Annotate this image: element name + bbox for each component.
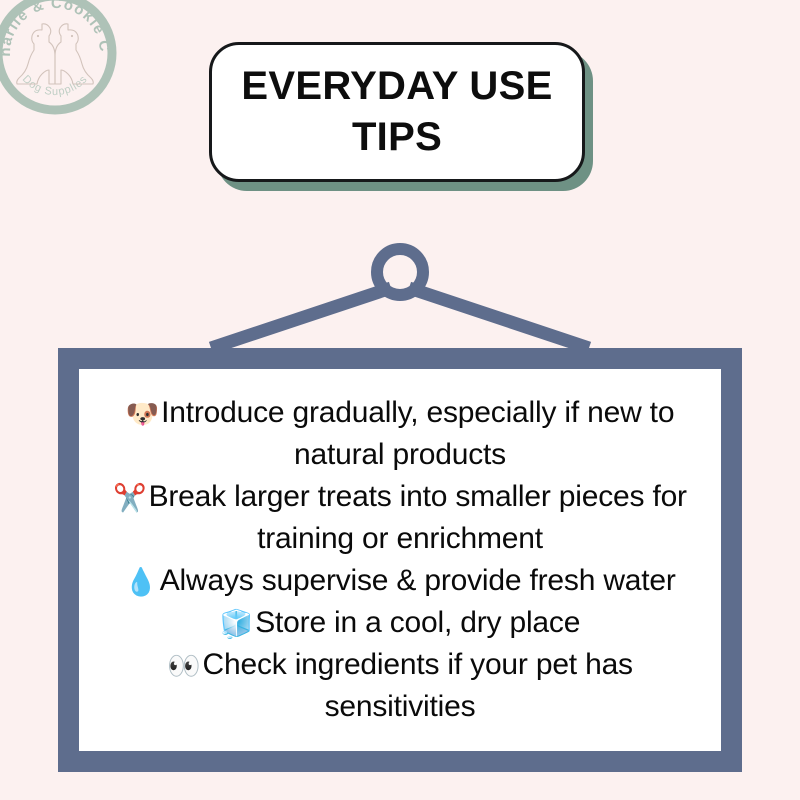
list-item: ✂️Break larger treats into smaller piece… bbox=[91, 476, 709, 560]
hanging-string-right bbox=[409, 288, 589, 348]
dog-silhouette-right bbox=[55, 24, 93, 84]
ring-icon bbox=[377, 249, 423, 295]
hanging-string-left bbox=[211, 288, 391, 348]
list-item: 👀Check ingredients if your pet has sensi… bbox=[91, 644, 709, 728]
list-item: 💧Always supervise & provide fresh water bbox=[91, 560, 709, 602]
list-item: 🐶Introduce gradually, especially if new … bbox=[91, 392, 709, 476]
title-banner-container: EVERYDAY USE TIPS bbox=[209, 42, 585, 182]
tip-text: Check ingredients if your pet has sensit… bbox=[203, 648, 633, 723]
ice-cube-emoji: 🧊 bbox=[220, 609, 253, 639]
scissors-emoji: ✂️ bbox=[113, 483, 146, 513]
page-title: EVERYDAY USE TIPS bbox=[212, 61, 582, 163]
tip-text: Always supervise & provide fresh water bbox=[160, 564, 676, 597]
dog-face-emoji: 🐶 bbox=[126, 399, 159, 429]
tips-sign-board: 🐶Introduce gradually, especially if new … bbox=[58, 348, 742, 772]
tip-text: Break larger treats into smaller pieces … bbox=[149, 480, 687, 555]
eyes-emoji: 👀 bbox=[167, 651, 200, 681]
brand-logo: Charlie & Cookie Co. Dog Supplies bbox=[0, 0, 118, 116]
tip-text: Store in a cool, dry place bbox=[255, 606, 580, 639]
droplet-emoji: 💧 bbox=[124, 567, 157, 597]
tips-list: 🐶Introduce gradually, especially if new … bbox=[91, 392, 709, 728]
tip-text: Introduce gradually, especially if new t… bbox=[161, 396, 674, 471]
sign-hanger bbox=[205, 236, 595, 356]
dog-silhouette-left bbox=[17, 24, 55, 84]
tips-sign-inner: 🐶Introduce gradually, especially if new … bbox=[79, 369, 721, 751]
list-item: 🧊Store in a cool, dry place bbox=[91, 602, 709, 644]
title-banner: EVERYDAY USE TIPS bbox=[209, 42, 585, 182]
